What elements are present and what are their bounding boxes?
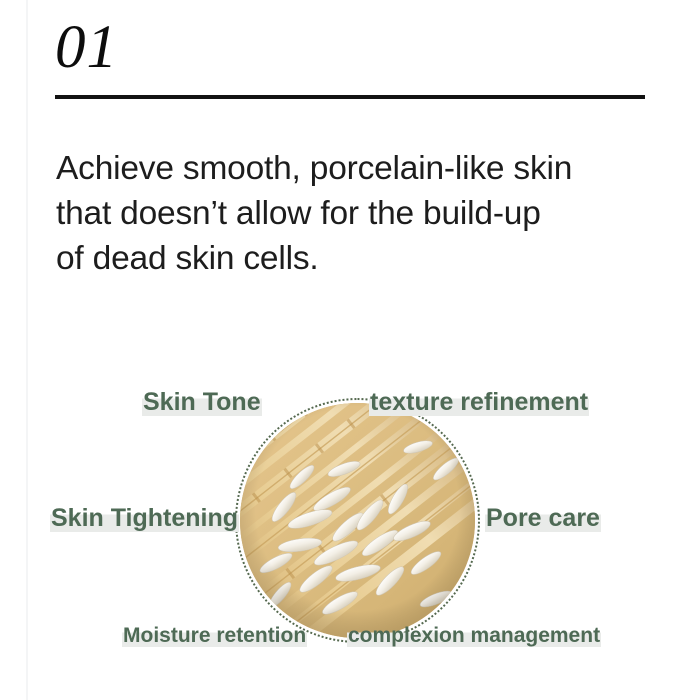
- label-skin-tightening-text: Skin Tightening: [50, 504, 239, 532]
- headline: Achieve smooth, porcelain-like skin that…: [56, 146, 656, 281]
- step-number: 01: [55, 17, 118, 78]
- label-skin-tone: Skin Tone: [142, 390, 262, 415]
- label-skin-tightening: Skin Tightening: [50, 506, 239, 531]
- ingredient-photo-circle: [240, 403, 475, 638]
- label-moisture-retention-text: Moisture retention: [122, 624, 307, 647]
- label-pore-care: Pore care: [485, 506, 601, 531]
- label-texture-refinement-text: texture refinement: [369, 388, 589, 416]
- headline-line-3: of dead skin cells.: [56, 236, 656, 281]
- headline-line-2: that doesn’t allow for the build-up: [56, 191, 656, 236]
- label-complexion-management-text: complexion management: [347, 624, 601, 647]
- header-divider: [55, 95, 645, 99]
- slide-canvas: 01 Achieve smooth, porcelain-like skin t…: [0, 0, 700, 700]
- label-skin-tone-text: Skin Tone: [142, 388, 262, 416]
- label-pore-care-text: Pore care: [485, 504, 601, 532]
- benefits-diagram: Skin Tone texture refinement Skin Tighte…: [0, 370, 700, 670]
- label-moisture-retention: Moisture retention: [122, 625, 307, 646]
- label-complexion-management: complexion management: [347, 625, 601, 646]
- label-texture-refinement: texture refinement: [369, 390, 589, 415]
- headline-line-1: Achieve smooth, porcelain-like skin: [56, 146, 656, 191]
- dotted-ring-border: [235, 398, 480, 643]
